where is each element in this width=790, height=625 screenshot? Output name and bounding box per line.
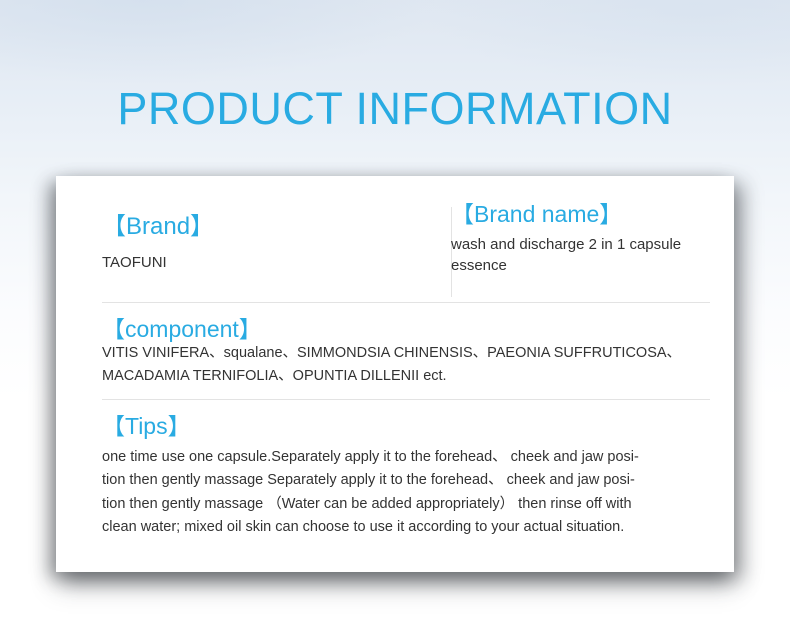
brand-name-heading: 【Brand name】 [451,202,710,227]
tips-section: 【Tips】 one time use one capsule.Separate… [102,400,710,539]
brand-value: TAOFUNI [102,254,402,271]
information-card: 【Brand】 TAOFUNI 【Brand name】 wash and di… [56,176,734,572]
component-heading: 【component】 [102,317,710,342]
card-content: 【Brand】 TAOFUNI 【Brand name】 wash and di… [102,198,710,539]
tips-value: one time use one capsule.Separately appl… [102,446,704,540]
component-section: 【component】 VITIS VINIFERA、squalane、SIMM… [102,303,710,387]
tips-line: one time use one capsule.Separately appl… [102,446,704,469]
brand-column: 【Brand】 TAOFUNI [102,198,402,271]
brand-row: 【Brand】 TAOFUNI 【Brand name】 wash and di… [102,198,710,302]
tips-heading: 【Tips】 [102,414,710,439]
brand-name-column: 【Brand name】 wash and discharge 2 in 1 c… [451,198,710,276]
component-value: VITIS VINIFERA、squalane、SIMMONDSIA CHINE… [102,342,710,387]
tips-line: clean water; mixed oil skin can choose t… [102,516,704,539]
brand-name-value: wash and discharge 2 in 1 capsule essenc… [451,235,710,276]
component-line: MACADAMIA TERNIFOLIA、OPUNTIA DILLENII ec… [102,365,710,387]
product-information-page: PRODUCT INFORMATION 【Brand】 TAOFUNI 【Bra… [0,0,790,625]
brand-heading: 【Brand】 [102,214,402,240]
component-line: VITIS VINIFERA、squalane、SIMMONDSIA CHINE… [102,342,710,364]
tips-line: tion then gently massage （Water can be a… [102,493,704,516]
tips-line: tion then gently massage Separately appl… [102,469,704,492]
page-title: PRODUCT INFORMATION [0,86,790,131]
